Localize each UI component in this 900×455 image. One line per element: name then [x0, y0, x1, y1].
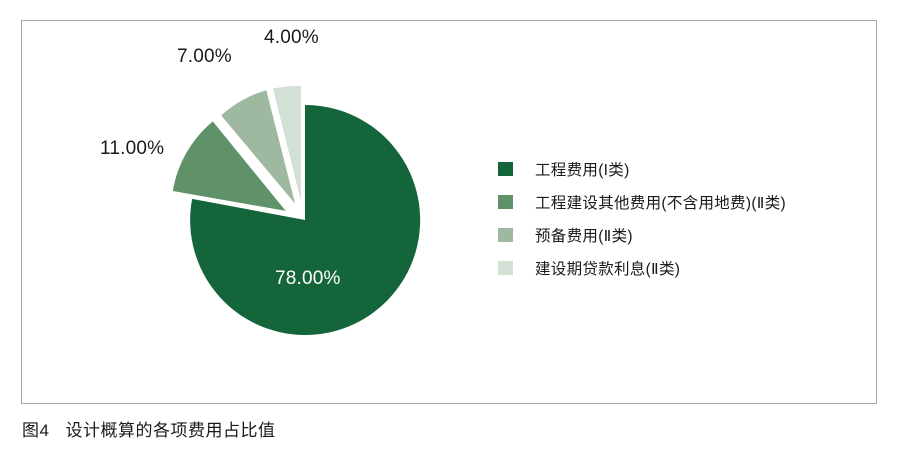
legend-item-2[interactable]: 预备费用(Ⅱ类) — [498, 218, 868, 251]
pie-value-label-0: 78.00% — [275, 268, 341, 290]
legend-label-0: 工程费用(I类) — [535, 158, 630, 180]
legend-label-1: 工程建设其他费用(不含用地费)(Ⅱ类) — [535, 191, 786, 213]
pie-chart: 78.00% 11.00% 7.00% 4.00% 工程费用(I类) 工程建设其… — [0, 0, 900, 405]
figure-caption-number: 图4 — [22, 421, 49, 440]
figure-root: 78.00% 11.00% 7.00% 4.00% 工程费用(I类) 工程建设其… — [0, 0, 900, 455]
legend-swatch-icon-0 — [498, 162, 513, 176]
legend-swatch-icon-1 — [498, 195, 513, 209]
figure-caption-text: 设计概算的各项费用占比值 — [65, 421, 275, 440]
legend-item-0[interactable]: 工程费用(I类) — [498, 152, 868, 185]
legend-item-3[interactable]: 建设期贷款利息(Ⅱ类) — [498, 251, 868, 284]
legend-item-1[interactable]: 工程建设其他费用(不含用地费)(Ⅱ类) — [498, 185, 868, 218]
pie-svg — [150, 55, 470, 385]
legend-swatch-icon-2 — [498, 228, 513, 242]
legend-label-3: 建设期贷款利息(Ⅱ类) — [535, 257, 680, 279]
pie-value-label-2: 7.00% — [177, 46, 232, 68]
figure-caption: 图4设计概算的各项费用占比值 — [22, 416, 275, 441]
pie-value-label-1: 11.00% — [100, 138, 164, 160]
pie-value-label-3: 4.00% — [264, 27, 319, 49]
legend-label-2: 预备费用(Ⅱ类) — [535, 224, 633, 246]
chart-legend: 工程费用(I类) 工程建设其他费用(不含用地费)(Ⅱ类) 预备费用(Ⅱ类) 建设… — [498, 152, 868, 284]
legend-swatch-icon-3 — [498, 261, 513, 275]
